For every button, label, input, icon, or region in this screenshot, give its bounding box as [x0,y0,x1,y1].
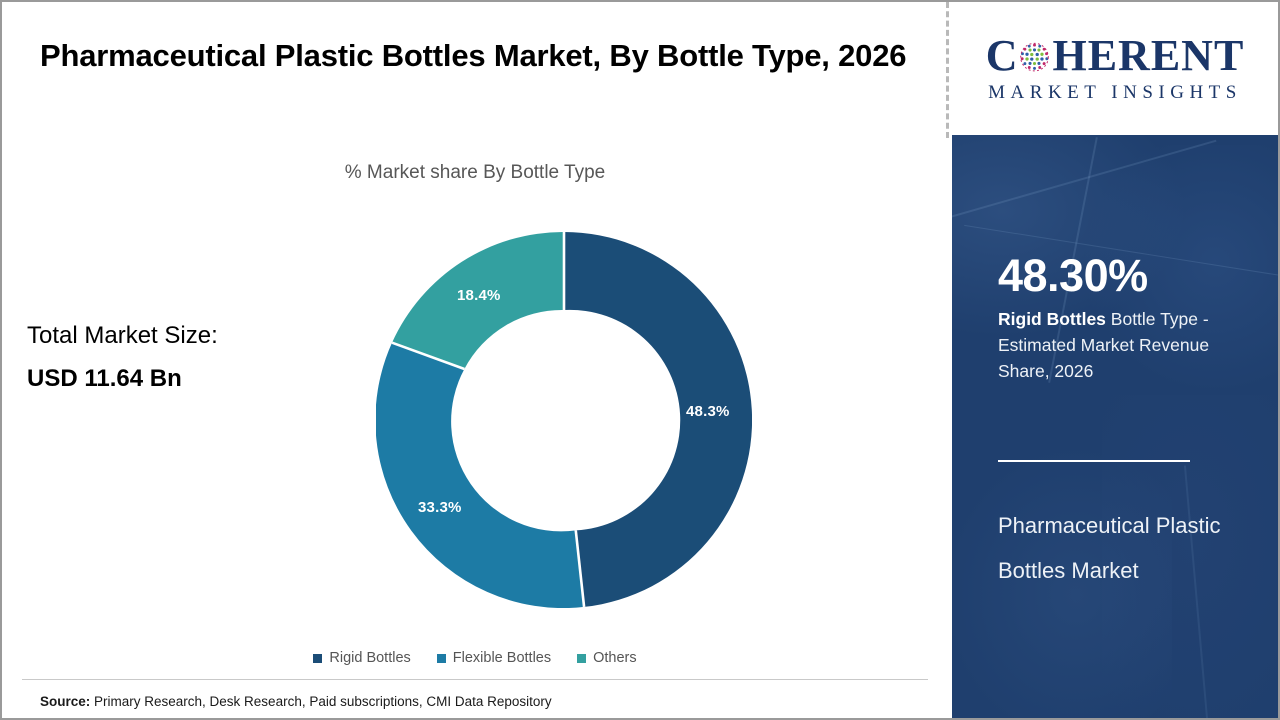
legend-swatch-icon [437,654,446,663]
total-market-size-value: USD 11.64 Bn [27,367,182,391]
highlight-panel: C [952,2,1278,718]
chart-subtitle: % Market share By Bottle Type [2,162,948,184]
logo-subtitle: MARKET INSIGHTS [988,82,1242,104]
logo-letter-c: C [986,34,1019,78]
source-text: Primary Research, Desk Research, Paid su… [90,694,551,709]
legend-item-rigid-bottles[interactable]: Rigid Bottles [313,650,410,666]
highlight-description-bold: Rigid Bottles [998,309,1106,329]
source-prefix: Source: [40,694,90,709]
market-name: Pharmaceutical Plastic Bottles Market [998,503,1248,593]
background-streak [952,140,1216,225]
highlight-divider [998,460,1190,462]
legend-label: Rigid Bottles [329,650,410,666]
total-market-size-label: Total Market Size: [27,324,218,348]
highlight-body: 48.30% Rigid Bottles Bottle Type - Estim… [952,135,1278,718]
legend-item-flexible-bottles[interactable]: Flexible Bottles [437,650,551,666]
logo-wordmark: C [986,34,1245,78]
infographic-root: Pharmaceutical Plastic Bottles Market, B… [0,0,1280,720]
legend-swatch-icon [577,654,586,663]
legend-item-others[interactable]: Others [577,650,637,666]
panel-divider [946,2,949,138]
source-divider [22,679,928,680]
donut-label-rigid: 48.3% [686,403,730,420]
donut-label-others: 18.4% [457,287,501,304]
source-note: Source: Primary Research, Desk Research,… [40,694,552,709]
logo-word-rest: HERENT [1052,34,1244,78]
donut-chart [376,232,752,608]
brand-logo[interactable]: C [952,2,1278,135]
donut-slice-flexible [376,343,584,608]
legend-label: Flexible Bottles [453,650,551,666]
page-title: Pharmaceutical Plastic Bottles Market, B… [40,32,910,80]
chart-panel: Pharmaceutical Plastic Bottles Market, B… [2,2,948,718]
highlight-percentage: 48.30% [998,253,1148,298]
highlight-description: Rigid Bottles Bottle Type - Estimated Ma… [998,307,1248,385]
legend-label: Others [593,650,637,666]
donut-label-flexible: 33.3% [418,499,462,516]
dotted-globe-icon [1018,41,1051,74]
chart-legend: Rigid Bottles Flexible Bottles Others [2,650,948,666]
legend-swatch-icon [313,654,322,663]
